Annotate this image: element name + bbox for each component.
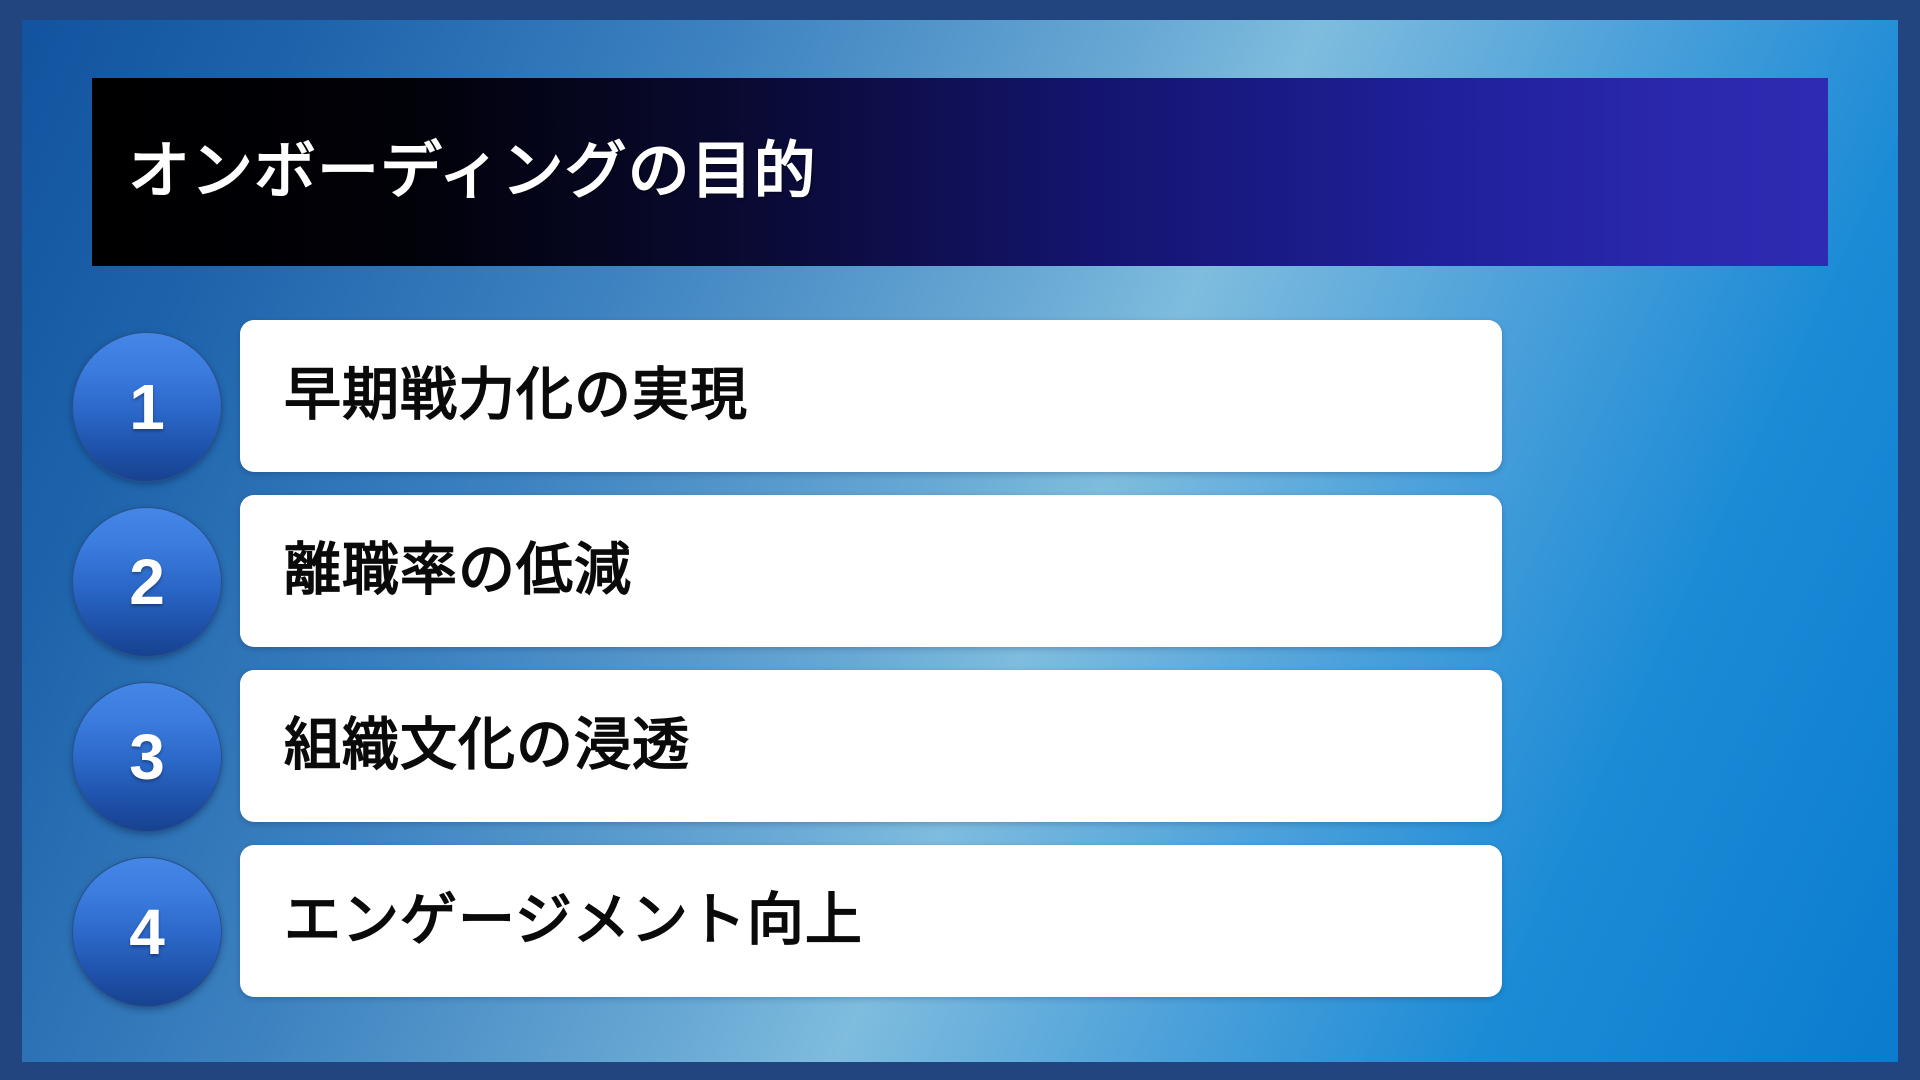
item-card[interactable]: 離職率の低減 (240, 495, 1502, 647)
item-card[interactable]: エンゲージメント向上 (240, 845, 1502, 997)
item-number-badge: 1 (72, 332, 222, 482)
item-card[interactable]: 組織文化の浸透 (240, 670, 1502, 822)
objectives-list: 1 早期戦力化の実現 2 離職率の低減 3 組織文化の浸透 (22, 320, 1898, 1020)
item-number-badge: 3 (72, 682, 222, 832)
slide-title-band: オンボーディングの目的 (92, 78, 1828, 266)
item-card-label: 組織文化の浸透 (284, 713, 690, 779)
item-number-label: 3 (129, 725, 165, 789)
list-item[interactable]: 4 エンゲージメント向上 (22, 845, 1898, 1020)
list-item[interactable]: 1 早期戦力化の実現 (22, 320, 1898, 495)
item-number-badge: 2 (72, 507, 222, 657)
slide-title: オンボーディングの目的 (128, 138, 817, 206)
item-card-label: エンゲージメント向上 (284, 888, 863, 954)
slide-canvas: オンボーディングの目的 1 早期戦力化の実現 2 離職率の低減 (22, 20, 1898, 1062)
item-number-badge: 4 (72, 857, 222, 1007)
item-number-label: 4 (129, 900, 165, 964)
list-item[interactable]: 2 離職率の低減 (22, 495, 1898, 670)
item-card-label: 離職率の低減 (284, 538, 632, 604)
list-item[interactable]: 3 組織文化の浸透 (22, 670, 1898, 845)
item-number-label: 1 (129, 375, 165, 439)
item-number-label: 2 (129, 550, 165, 614)
item-card-label: 早期戦力化の実現 (284, 363, 748, 429)
item-card[interactable]: 早期戦力化の実現 (240, 320, 1502, 472)
slide-frame: オンボーディングの目的 1 早期戦力化の実現 2 離職率の低減 (0, 0, 1920, 1080)
